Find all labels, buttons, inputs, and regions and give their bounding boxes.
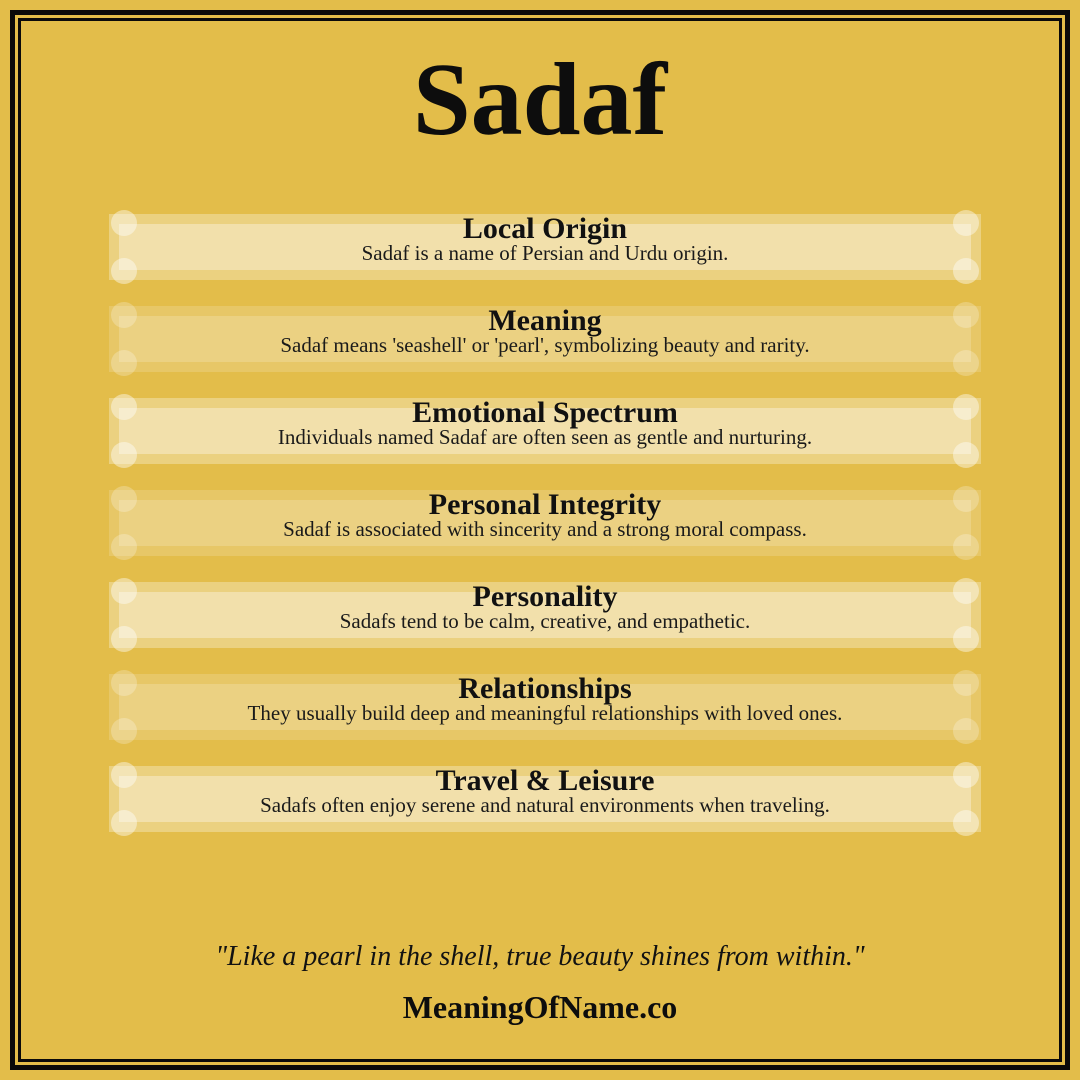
card-text: RelationshipsThey usually build deep and… — [109, 666, 981, 748]
info-card: Local OriginSadaf is a name of Persian a… — [109, 206, 981, 288]
card-text: Local OriginSadaf is a name of Persian a… — [109, 206, 981, 288]
info-card: Travel & LeisureSadafs often enjoy seren… — [109, 758, 981, 840]
card-description: Sadaf is associated with sincerity and a… — [109, 518, 981, 541]
card-description: They usually build deep and meaningful r… — [109, 702, 981, 725]
poster-content: Sadaf Local OriginSadaf is a name of Per… — [21, 21, 1059, 1059]
info-card: Emotional SpectrumIndividuals named Sada… — [109, 390, 981, 472]
card-text: Emotional SpectrumIndividuals named Sada… — [109, 390, 981, 472]
info-card: MeaningSadaf means 'seashell' or 'pearl'… — [109, 298, 981, 380]
card-description: Sadafs tend to be calm, creative, and em… — [109, 610, 981, 633]
card-text: Travel & LeisureSadafs often enjoy seren… — [109, 758, 981, 840]
card-text: PersonalitySadafs tend to be calm, creat… — [109, 574, 981, 656]
card-description: Sadaf means 'seashell' or 'pearl', symbo… — [109, 334, 981, 357]
card-text: Personal IntegritySadaf is associated wi… — [109, 482, 981, 564]
footer-quote: "Like a pearl in the shell, true beauty … — [21, 941, 1059, 973]
card-description: Sadaf is a name of Persian and Urdu orig… — [109, 242, 981, 265]
card-text: MeaningSadaf means 'seashell' or 'pearl'… — [109, 298, 981, 380]
page-title: Sadaf — [21, 45, 1059, 154]
info-card-list: Local OriginSadaf is a name of Persian a… — [109, 206, 981, 850]
poster: Sadaf Local OriginSadaf is a name of Per… — [0, 0, 1080, 1080]
footer-brand: MeaningOfName.co — [21, 989, 1059, 1026]
outer-frame-border: Sadaf Local OriginSadaf is a name of Per… — [10, 10, 1070, 1070]
info-card: PersonalitySadafs tend to be calm, creat… — [109, 574, 981, 656]
card-description: Sadafs often enjoy serene and natural en… — [109, 794, 981, 817]
info-card: RelationshipsThey usually build deep and… — [109, 666, 981, 748]
inner-frame-border: Sadaf Local OriginSadaf is a name of Per… — [18, 18, 1062, 1062]
info-card: Personal IntegritySadaf is associated wi… — [109, 482, 981, 564]
card-description: Individuals named Sadaf are often seen a… — [109, 426, 981, 449]
